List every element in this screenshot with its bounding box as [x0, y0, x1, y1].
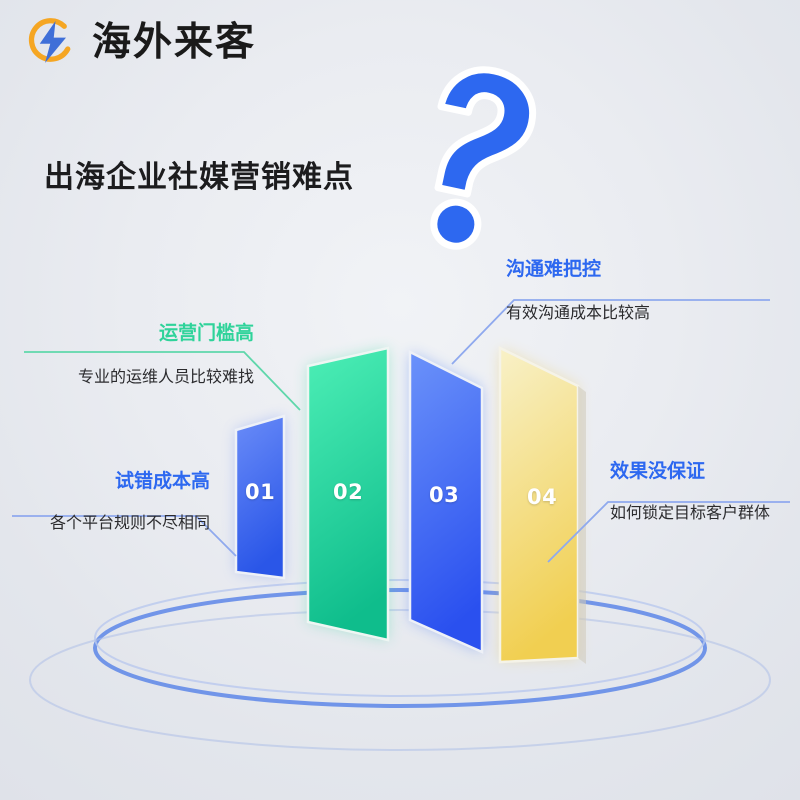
callout-desc: 如何锁定目标客户群体	[610, 503, 800, 523]
infographic-canvas: 海外来客 出海企业社媒营销难点	[0, 0, 800, 800]
callout-desc: 各个平台规则不尽相同	[14, 513, 210, 533]
callout-desc: 有效沟通成本比较高	[506, 303, 766, 323]
panel-group	[0, 0, 800, 800]
callout-title: 试错成本高	[14, 470, 210, 493]
panel-03[interactable]	[410, 352, 482, 652]
callout-title: 运营门槛高	[24, 322, 254, 345]
panel-04[interactable]	[500, 348, 586, 664]
callout-trial-error-cost: 试错成本高 各个平台规则不尽相同	[14, 470, 210, 533]
callout-no-result-guarantee: 效果没保证 如何锁定目标客户群体	[610, 460, 800, 523]
callout-communication-control: 沟通难把控 有效沟通成本比较高	[506, 258, 766, 323]
panel-02[interactable]	[308, 348, 388, 640]
callout-title: 沟通难把控	[506, 258, 766, 281]
callout-desc: 专业的运维人员比较难找	[24, 367, 254, 387]
callout-title: 效果没保证	[610, 460, 800, 483]
panel-01[interactable]	[236, 416, 284, 578]
callout-operation-threshold: 运营门槛高 专业的运维人员比较难找	[24, 322, 254, 387]
